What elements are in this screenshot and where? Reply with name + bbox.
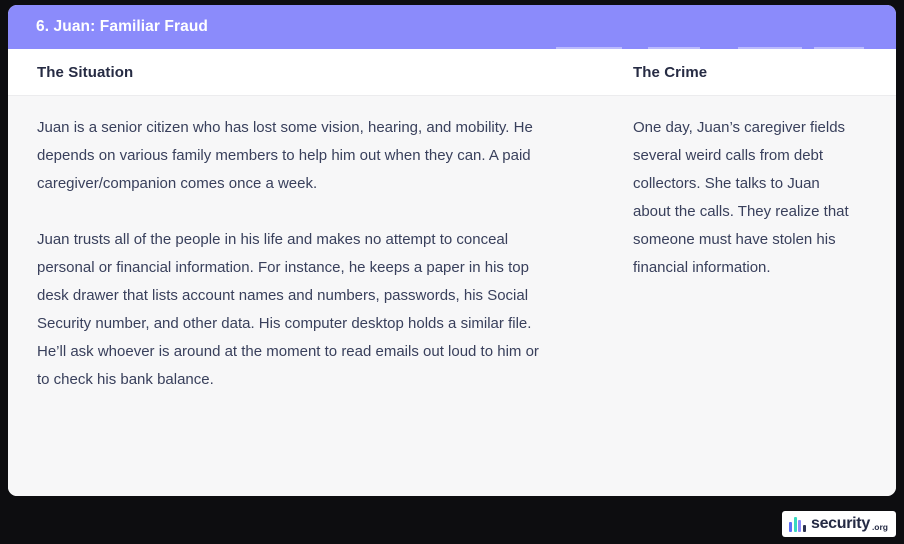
logo-wordmark: security <box>811 516 870 532</box>
header-column-tick <box>556 47 622 49</box>
header-column-tick <box>814 47 864 49</box>
table-body-row: Juan is a senior citizen who has lost so… <box>8 96 896 496</box>
header-column-tick <box>648 47 700 49</box>
column-header-crime: The Crime <box>622 64 707 81</box>
header-column-tick <box>738 47 802 49</box>
table-header-row: The Situation The Crime <box>8 49 896 96</box>
card-header: 6. Juan: Familiar Fraud <box>8 5 896 49</box>
column-header-situation: The Situation <box>8 64 622 81</box>
case-study-card: 6. Juan: Familiar Fraud The Situation Th… <box>8 5 896 496</box>
situation-paragraph: Juan trusts all of the people in his lif… <box>37 226 544 394</box>
logo-bars-icon <box>789 517 806 532</box>
logo-tld: .org <box>872 523 888 533</box>
situation-paragraph: Juan is a senior citizen who has lost so… <box>37 114 544 198</box>
situation-cell: Juan is a senior citizen who has lost so… <box>8 114 622 496</box>
security-org-logo: security .org <box>782 511 896 537</box>
crime-cell: One day, Juan’s caregiver fields several… <box>622 114 896 496</box>
crime-paragraph: One day, Juan’s caregiver fields several… <box>633 114 860 282</box>
page-title: 6. Juan: Familiar Fraud <box>36 19 208 35</box>
